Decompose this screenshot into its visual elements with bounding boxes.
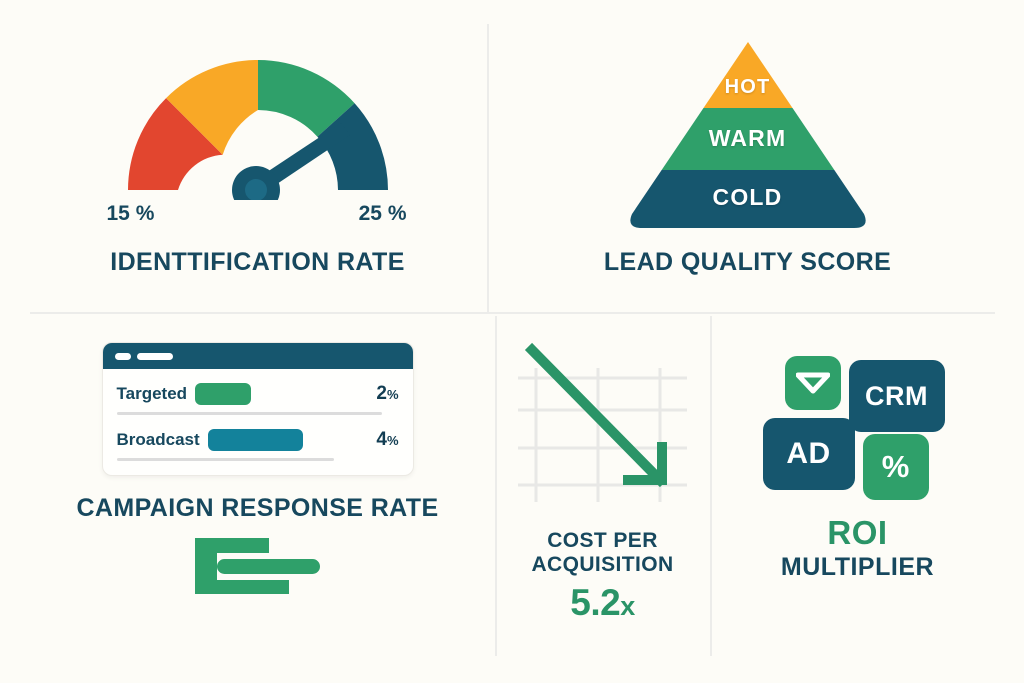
infographic-canvas: 15 % 25 % IDENTTIFICATION RATE HOT WARM — [0, 0, 1024, 683]
crm-tile: CRM — [849, 360, 945, 432]
gauge-max-label: 25 % — [359, 202, 407, 226]
pyramid-label-warm: WARM — [618, 125, 878, 152]
metric-label-broadcast: Broadcast — [117, 430, 200, 450]
metric-track-targeted — [117, 412, 382, 415]
ad-tile-label: AD — [786, 437, 830, 471]
roi-multiplier-panel: CRM AD % ROI MULTIPLIER — [720, 330, 995, 660]
cost-per-acquisition-title: COST PER ACQUISITION — [500, 529, 705, 576]
divider-vertical-top — [487, 24, 489, 312]
ad-tile: AD — [763, 418, 855, 490]
percent-tile: % — [863, 434, 929, 500]
gauge-svg — [108, 40, 408, 200]
metric-label-targeted: Targeted — [117, 384, 188, 404]
lead-quality-panel: HOT WARM COLD LEAD QUALITY SCORE — [500, 24, 995, 306]
gauge-scale-labels: 15 % 25 % — [103, 202, 413, 232]
arrow-tile — [785, 356, 841, 410]
crm-tile-label: CRM — [865, 381, 928, 412]
window-titlebar-icon — [103, 343, 413, 369]
roi-title-top: ROI — [720, 514, 995, 552]
campaign-response-title: CAMPAIGN RESPONSE RATE — [30, 494, 485, 522]
identification-rate-title: IDENTTIFICATION RATE — [30, 248, 485, 276]
pyramid-chart: HOT WARM COLD — [618, 36, 878, 236]
divider-vertical-bottom-right — [710, 316, 712, 656]
horizontal-bar-chart-icon — [195, 538, 320, 594]
gauge-min-label: 15 % — [107, 202, 155, 226]
metric-bar-broadcast — [208, 429, 303, 451]
cost-per-acquisition-panel: COST PER ACQUISITION 5.2x — [500, 330, 705, 660]
triangle-down-icon — [796, 372, 830, 394]
browser-content: Targeted 2% Broadcast 4% — [103, 369, 413, 475]
lead-quality-title: LEAD QUALITY SCORE — [500, 248, 995, 276]
roi-tile-group: CRM AD % — [763, 356, 953, 506]
campaign-response-panel: Targeted 2% Broadcast 4% CAMPAIGN RESPON… — [30, 330, 485, 660]
metric-track-broadcast — [117, 458, 334, 461]
metric-row-broadcast: Broadcast 4% — [117, 429, 399, 451]
roi-title-bottom: MULTIPLIER — [720, 553, 995, 582]
divider-horizontal-middle — [30, 312, 995, 314]
gauge-chart — [108, 40, 408, 200]
pyramid-label-cold: COLD — [618, 184, 878, 211]
identification-rate-panel: 15 % 25 % IDENTTIFICATION RATE — [30, 24, 485, 306]
browser-window-mockup: Targeted 2% Broadcast 4% — [102, 342, 414, 476]
cpa-value: 5.2x — [500, 582, 705, 624]
cpa-title-line-1: COST PER — [500, 529, 705, 553]
pyramid-label-hot: HOT — [618, 76, 878, 99]
metric-value-broadcast: 4% — [376, 429, 398, 451]
metric-row-targeted: Targeted 2% — [117, 383, 399, 405]
divider-vertical-bottom-left — [495, 316, 497, 656]
gauge-needle-icon — [232, 123, 350, 200]
metric-value-targeted: 2% — [376, 383, 398, 405]
percent-tile-label: % — [882, 449, 910, 485]
titlebar-pill-small — [115, 353, 131, 360]
titlebar-pill-large — [137, 353, 173, 360]
cpa-title-line-2: ACQUISITION — [500, 553, 705, 577]
down-trend-arrow-icon — [510, 340, 695, 515]
metric-bar-targeted — [195, 383, 251, 405]
